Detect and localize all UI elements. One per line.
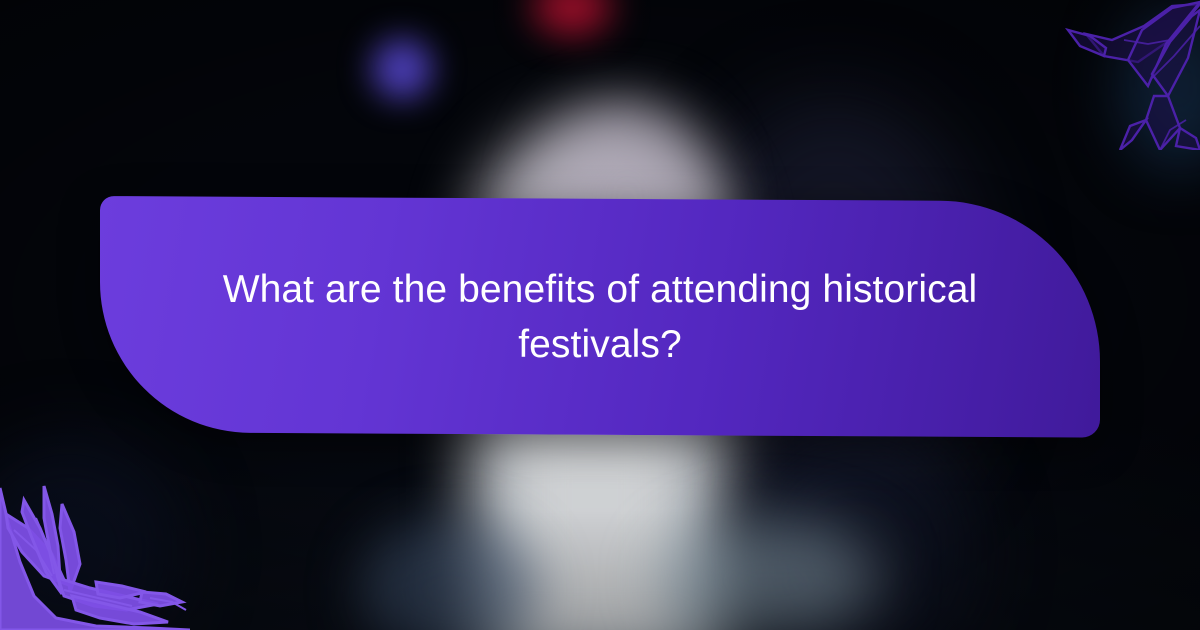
question-banner: What are the benefits of attending histo… [100,196,1100,438]
question-text: What are the benefits of attending histo… [220,261,980,372]
social-card: What are the benefits of attending histo… [0,0,1200,630]
question-banner-inner: What are the benefits of attending histo… [100,199,1100,435]
